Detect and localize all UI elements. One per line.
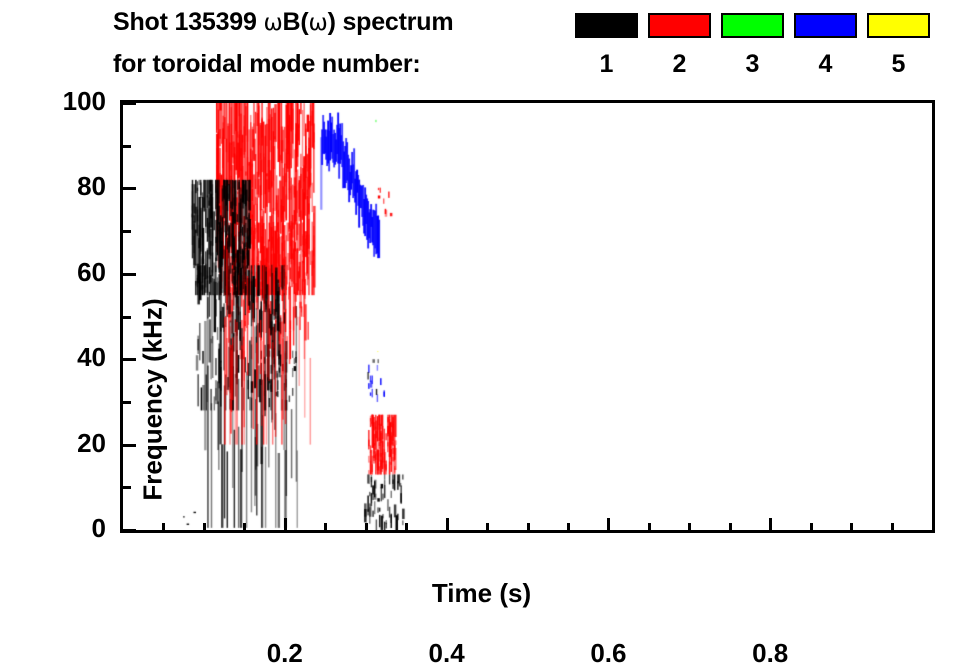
- y-tick-label: 60: [34, 257, 106, 288]
- spectrogram-canvas-wrapper: [123, 103, 932, 530]
- plot-area: 0.20.40.60.8 020406080100 Frequency (kHz…: [120, 100, 935, 533]
- x-tick: [850, 523, 853, 531]
- y-tick: [123, 102, 136, 105]
- y-axis-title: Frequency (kHz): [138, 250, 169, 550]
- x-tick: [284, 518, 287, 531]
- spectrogram-figure: Shot 135399 ωB(ω) spectrum for toroidal …: [0, 0, 963, 615]
- title-shot-text: Shot 135399: [113, 8, 263, 36]
- legend-label-mode-3: 3: [721, 49, 784, 79]
- x-tick: [688, 523, 691, 531]
- x-axis-title: Time (s): [0, 578, 963, 609]
- y-tick: [123, 273, 136, 276]
- y-tick-label: 0: [34, 513, 106, 544]
- x-tick-label: 0.8: [725, 638, 815, 669]
- y-tick-label: 20: [34, 428, 106, 459]
- omega-symbol-1: ω: [263, 10, 282, 36]
- legend-label-mode-4: 4: [794, 49, 857, 79]
- y-tick: [123, 316, 131, 319]
- legend-swatch-mode-3: [721, 13, 784, 38]
- x-tick: [405, 523, 408, 531]
- x-tick: [769, 518, 772, 531]
- legend-item-5: 5: [867, 13, 930, 38]
- y-tick: [123, 444, 136, 447]
- y-tick: [123, 187, 136, 190]
- x-tick-label: 0.6: [563, 638, 653, 669]
- legend-swatch-mode-4: [794, 13, 857, 38]
- x-tick: [446, 518, 449, 531]
- x-tick: [527, 523, 530, 531]
- x-tick-label: 0.2: [240, 638, 330, 669]
- x-tick: [648, 523, 651, 531]
- x-tick: [486, 523, 489, 531]
- title-b-open: B(: [283, 8, 309, 36]
- legend-item-3: 3: [721, 13, 784, 38]
- y-tick: [123, 230, 131, 233]
- legend-item-1: 1: [575, 13, 638, 38]
- x-tick: [729, 523, 732, 531]
- y-tick: [123, 529, 136, 532]
- y-tick-label: 100: [34, 86, 106, 117]
- y-tick: [123, 358, 136, 361]
- figure-title-line-1: Shot 135399 ωB(ω) spectrum: [113, 8, 453, 37]
- legend-label-mode-1: 1: [575, 49, 638, 79]
- y-tick-label: 80: [34, 171, 106, 202]
- x-tick-label: 0.4: [402, 638, 492, 669]
- legend-swatch-mode-1: [575, 13, 638, 38]
- y-tick: [123, 401, 131, 404]
- spectrogram-data-canvas: [123, 103, 932, 530]
- legend-label-mode-5: 5: [867, 49, 930, 79]
- title-spectrum-text: ) spectrum: [328, 8, 454, 36]
- omega-symbol-2: ω: [309, 10, 328, 36]
- x-tick: [203, 523, 206, 531]
- x-tick: [607, 518, 610, 531]
- legend: 1 2 3 4 5: [575, 13, 930, 91]
- x-tick: [810, 523, 813, 531]
- legend-item-2: 2: [648, 13, 711, 38]
- x-tick: [365, 523, 368, 531]
- legend-label-mode-2: 2: [648, 49, 711, 79]
- y-tick-label: 40: [34, 342, 106, 373]
- x-tick: [891, 523, 894, 531]
- figure-title-line-2: for toroidal mode number:: [113, 50, 421, 79]
- legend-swatch-mode-2: [648, 13, 711, 38]
- legend-swatch-mode-5: [867, 13, 930, 38]
- x-tick: [567, 523, 570, 531]
- x-tick: [324, 523, 327, 531]
- legend-item-4: 4: [794, 13, 857, 38]
- x-tick: [243, 523, 246, 531]
- y-tick: [123, 145, 131, 148]
- axis-frame-right: [932, 100, 935, 533]
- y-tick: [123, 486, 131, 489]
